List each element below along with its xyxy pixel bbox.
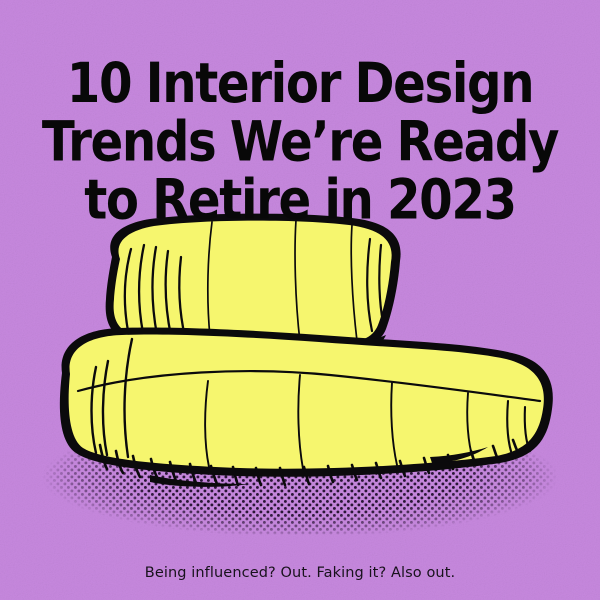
headline-line-3: to Retire in 2023 [5, 171, 596, 229]
chair-seat [60, 327, 553, 486]
headline-line-1: 10 Interior Design [5, 55, 596, 113]
caption-text: Being influenced? Out. Faking it? Also o… [0, 565, 600, 581]
headline-line-2: Trends We’re Ready [5, 113, 596, 171]
page-title: 10 Interior Design Trends We’re Ready to… [5, 55, 596, 230]
armchair-illustration [0, 195, 600, 535]
poster-canvas: 10 Interior Design Trends We’re Ready to… [0, 0, 600, 600]
